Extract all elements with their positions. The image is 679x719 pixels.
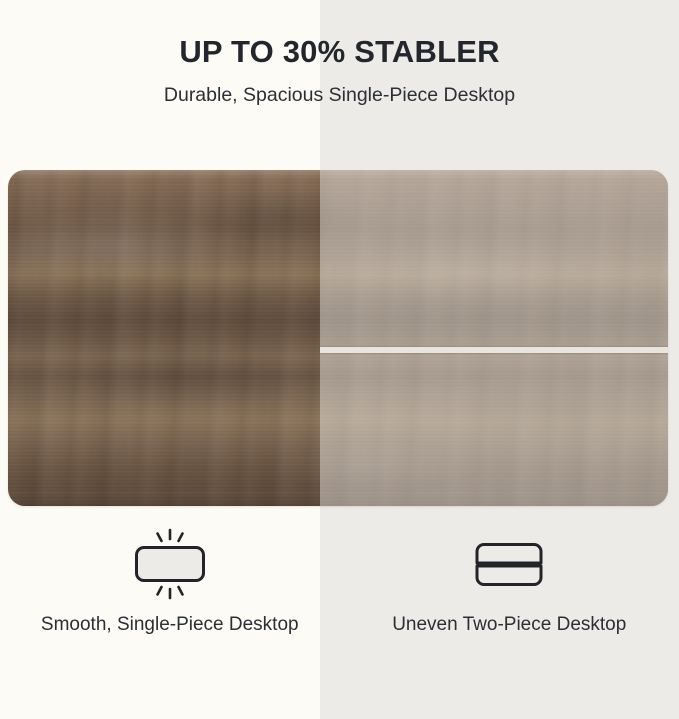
single-piece-desktop-glyph <box>127 526 213 602</box>
product-comparison-infographic: UP TO 30% STABLER Durable, Spacious Sing… <box>0 0 679 719</box>
two-piece-seam-line <box>320 347 668 353</box>
right-half-wash-overlay <box>320 170 668 506</box>
comparison-row: Smooth, Single-Piece Desktop Uneven Two-… <box>0 524 679 684</box>
comparison-column-single-piece: Smooth, Single-Piece Desktop <box>0 524 340 684</box>
comparison-caption-single-piece: Smooth, Single-Piece Desktop <box>41 604 299 639</box>
page-subtitle: Durable, Spacious Single-Piece Desktop <box>0 70 679 107</box>
single-piece-desktop-icon <box>127 524 213 604</box>
two-piece-desktop-glyph <box>466 526 552 602</box>
desktop-board <box>8 170 668 506</box>
two-piece-desktop-icon <box>466 524 552 604</box>
heading-block: UP TO 30% STABLER Durable, Spacious Sing… <box>0 0 679 107</box>
desktop-board-image <box>8 170 668 506</box>
page-title: UP TO 30% STABLER <box>0 0 679 70</box>
comparison-caption-two-piece: Uneven Two-Piece Desktop <box>392 604 626 639</box>
comparison-column-two-piece: Uneven Two-Piece Desktop <box>340 524 679 684</box>
